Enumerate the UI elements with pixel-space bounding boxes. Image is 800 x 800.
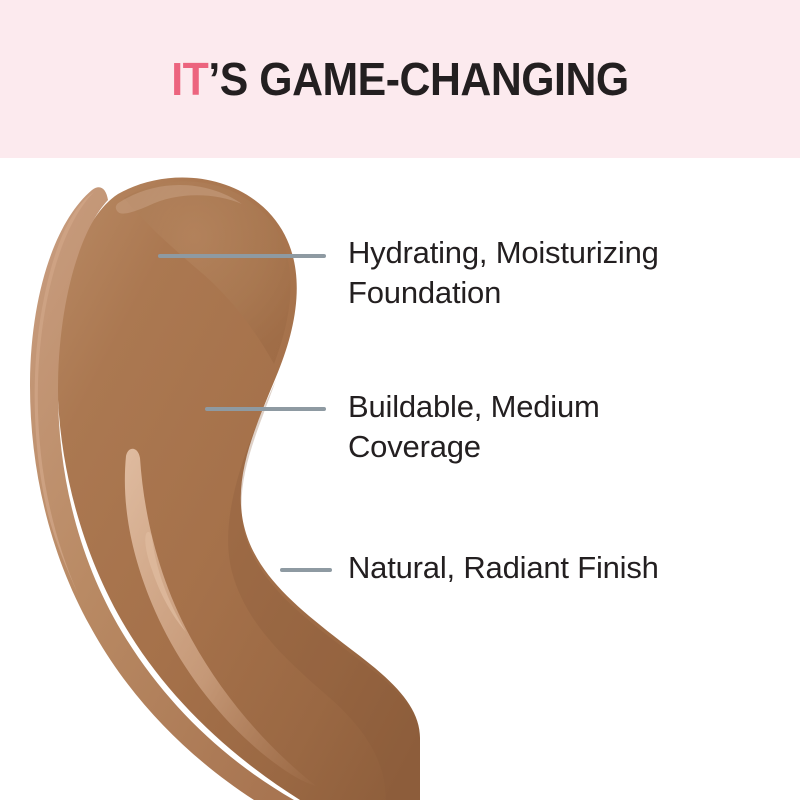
page-title: IT’S GAME-CHANGING [28,0,772,158]
callout-label-1: Hydrating, Moisturizing Foundation [348,233,778,312]
header-band: IT’S GAME-CHANGING [0,0,800,158]
headline-rest-text: ’S GAME-CHANGING [208,56,628,102]
headline-accent-text: IT [171,56,208,102]
product-feature-graphic: IT’S GAME-CHANGING [0,0,800,800]
callout-line-3 [280,568,332,572]
callout-line-2 [205,407,326,411]
callout-line-1 [158,254,326,258]
callout-label-3: Natural, Radiant Finish [348,548,788,588]
callout-label-2: Buildable, Medium Coverage [348,387,778,466]
